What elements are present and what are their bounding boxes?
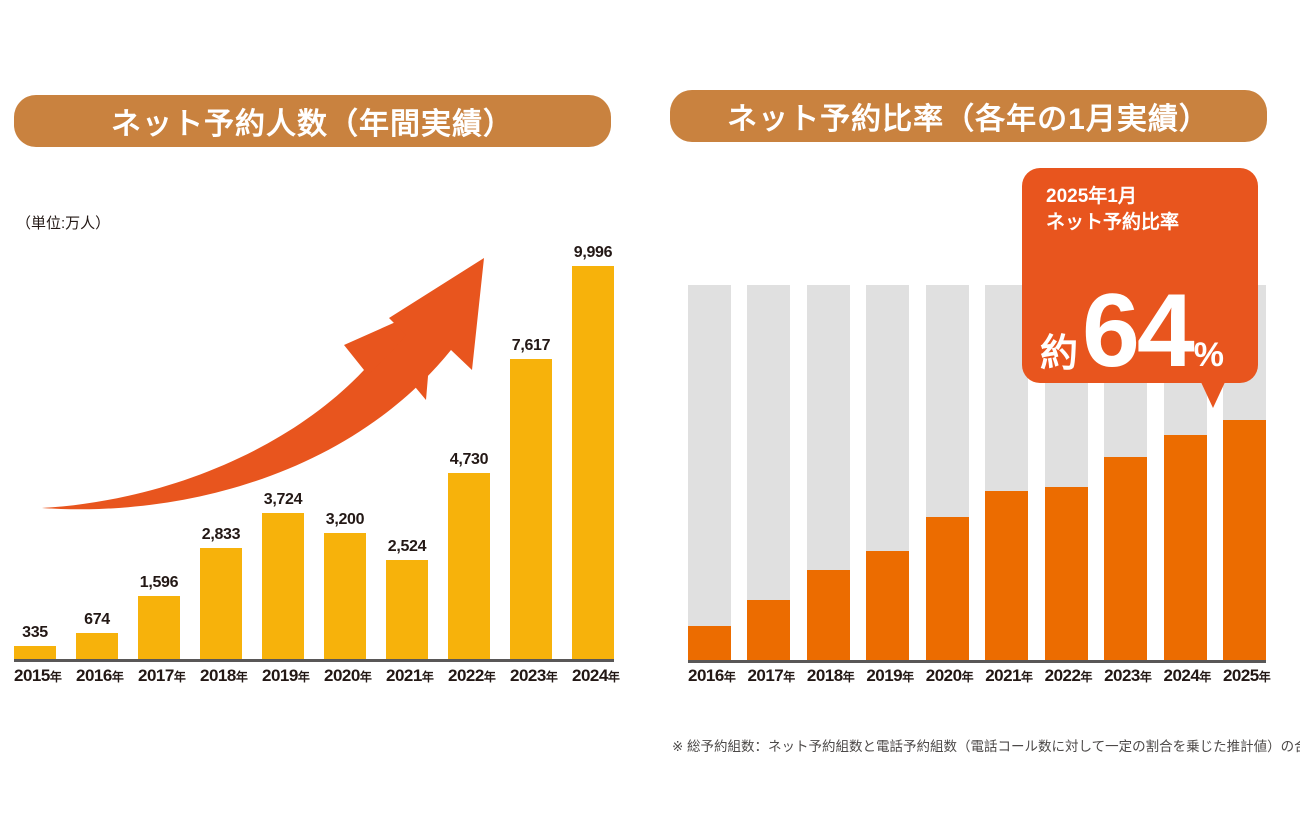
bar-rect xyxy=(572,266,614,659)
bar-column: 3,200 xyxy=(324,250,366,659)
x-axis-label: 2016年 xyxy=(688,666,731,686)
bar-column: 1,596 xyxy=(138,250,180,659)
stacked-bar-column xyxy=(926,265,969,660)
infographic-page: ネット予約人数（年間実績） （単位:万人） 3356741,5962,8333,… xyxy=(0,0,1300,813)
x-axis-label: 2016年 xyxy=(76,666,118,686)
left-axis-line xyxy=(14,659,614,662)
net-ratio-segment xyxy=(747,600,790,660)
net-ratio-segment xyxy=(866,551,909,660)
x-axis-label: 2020年 xyxy=(926,666,969,686)
bar-column: 9,996 xyxy=(572,250,614,659)
callout-heading: 2025年1月 ネット予約比率 xyxy=(1046,184,1179,235)
x-axis-label: 2025年 xyxy=(1223,666,1266,686)
bar-value-label: 9,996 xyxy=(574,244,613,262)
x-axis-label: 2018年 xyxy=(807,666,850,686)
right-axis-line xyxy=(688,660,1266,663)
left-bar-chart: 3356741,5962,8333,7243,2002,5244,7307,61… xyxy=(14,250,614,662)
bar-value-label: 4,730 xyxy=(450,451,489,469)
net-ratio-segment xyxy=(1164,435,1207,660)
callout-percent-sign: % xyxy=(1194,336,1224,375)
bar-rect xyxy=(510,359,552,659)
x-axis-label: 2024年 xyxy=(572,666,614,686)
x-axis-label: 2022年 xyxy=(448,666,490,686)
bar-value-label: 335 xyxy=(22,624,48,642)
x-axis-label: 2022年 xyxy=(1045,666,1088,686)
stacked-bar-column xyxy=(747,265,790,660)
net-reservation-ratio-callout: 2025年1月 ネット予約比率 約 64 % xyxy=(1022,168,1258,383)
bar-column: 3,724 xyxy=(262,250,304,659)
bar-value-label: 674 xyxy=(84,611,110,629)
callout-heading-line1: 2025年1月 xyxy=(1046,184,1179,210)
bar-rect xyxy=(14,646,56,659)
x-axis-label: 2021年 xyxy=(386,666,428,686)
left-bar-series: 3356741,5962,8333,7243,2002,5244,7307,61… xyxy=(14,250,614,659)
x-axis-label: 2017年 xyxy=(747,666,790,686)
bar-rect xyxy=(386,560,428,659)
bar-value-label: 7,617 xyxy=(512,337,551,355)
bar-rect xyxy=(200,548,242,659)
net-ratio-segment xyxy=(1045,487,1088,660)
left-x-axis-labels: 2015年2016年2017年2018年2019年2020年2021年2022年… xyxy=(14,666,614,686)
x-axis-label: 2015年 xyxy=(14,666,56,686)
net-ratio-segment xyxy=(1223,420,1266,660)
stacked-bar-column xyxy=(688,265,731,660)
x-axis-label: 2023年 xyxy=(510,666,552,686)
callout-tail xyxy=(1200,380,1226,408)
bar-column: 7,617 xyxy=(510,250,552,659)
net-ratio-segment xyxy=(926,517,969,660)
x-axis-label: 2019年 xyxy=(866,666,909,686)
bar-value-label: 2,833 xyxy=(202,526,241,544)
footnote: ※ 総予約組数：ネット予約組数と電話予約組数（電話コール数に対して一定の割合を乗… xyxy=(672,735,1300,755)
bar-rect xyxy=(76,633,118,660)
stacked-bar-column xyxy=(866,265,909,660)
net-ratio-segment xyxy=(688,626,731,660)
bar-column: 2,524 xyxy=(386,250,428,659)
bar-rect xyxy=(262,513,304,659)
left-chart-title: ネット予約人数（年間実績） xyxy=(14,95,611,147)
net-ratio-segment xyxy=(807,570,850,660)
net-ratio-segment xyxy=(1104,457,1147,660)
x-axis-label: 2024年 xyxy=(1164,666,1207,686)
x-axis-label: 2021年 xyxy=(985,666,1028,686)
stacked-bar-column xyxy=(807,265,850,660)
phone-ratio-segment xyxy=(688,285,731,660)
right-chart-title: ネット予約比率（各年の1月実績） xyxy=(670,90,1267,142)
x-axis-label: 2019年 xyxy=(262,666,304,686)
bar-column: 674 xyxy=(76,250,118,659)
bar-column: 4,730 xyxy=(448,250,490,659)
x-axis-label: 2018年 xyxy=(200,666,242,686)
x-axis-label: 2020年 xyxy=(324,666,366,686)
callout-value: 64 xyxy=(1082,287,1192,375)
bar-value-label: 3,200 xyxy=(326,511,365,529)
callout-value-group: 約 64 % xyxy=(1040,287,1224,377)
callout-approx-label: 約 xyxy=(1040,322,1078,377)
right-x-axis-labels: 2016年2017年2018年2019年2020年2021年2022年2023年… xyxy=(688,666,1266,686)
x-axis-label: 2017年 xyxy=(138,666,180,686)
bar-rect xyxy=(324,533,366,659)
net-ratio-segment xyxy=(985,491,1028,660)
bar-rect xyxy=(138,596,180,659)
bar-value-label: 3,724 xyxy=(264,491,303,509)
bar-value-label: 1,596 xyxy=(140,574,179,592)
bar-column: 2,833 xyxy=(200,250,242,659)
left-chart-unit-note: （単位:万人） xyxy=(16,212,110,233)
bar-column: 335 xyxy=(14,250,56,659)
x-axis-label: 2023年 xyxy=(1104,666,1147,686)
bar-rect xyxy=(448,473,490,659)
callout-heading-line2: ネット予約比率 xyxy=(1046,210,1179,236)
bar-value-label: 2,524 xyxy=(388,538,427,556)
left-panel: ネット予約人数（年間実績） （単位:万人） 3356741,5962,8333,… xyxy=(0,0,640,813)
